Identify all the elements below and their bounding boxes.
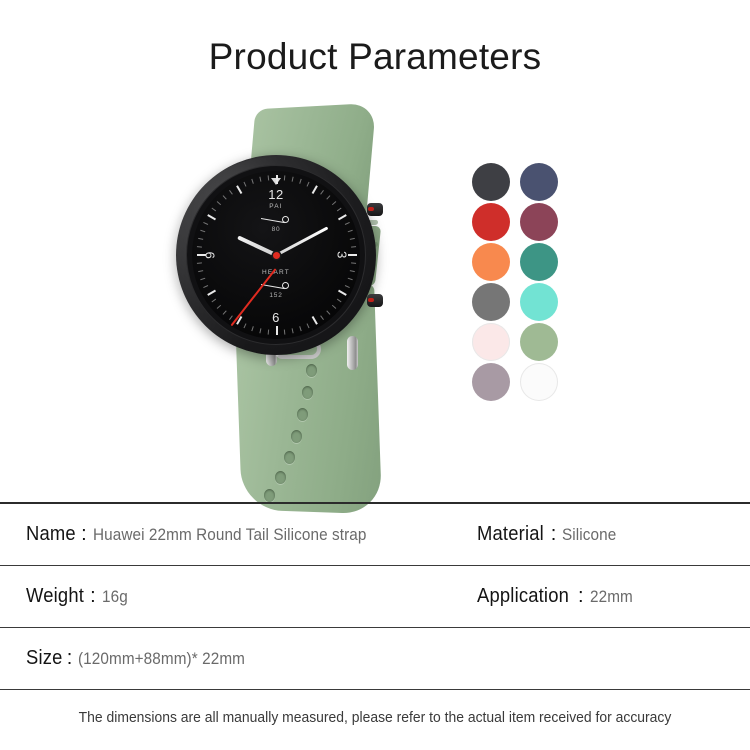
watch-hour-numeral-9: 9	[202, 251, 217, 259]
color-swatch-sage-green[interactable]	[520, 323, 558, 361]
color-swatch-teal[interactable]	[520, 243, 558, 281]
product-parameters-page: Product Parameters	[0, 0, 750, 750]
spec-label: Material	[477, 523, 544, 546]
color-swatch-mint-turquoise[interactable]	[520, 283, 558, 321]
spec-colon: :	[67, 647, 73, 670]
watch-subdial-heart: HEART 152	[250, 269, 302, 303]
spec-label: Name	[26, 523, 76, 546]
strap-hole	[291, 430, 302, 443]
subdial-needle-icon	[259, 212, 293, 226]
watch-hour-numeral-6: 6	[272, 310, 280, 325]
watch-center-pin	[273, 252, 280, 259]
spec-value: Huawei 22mm Round Tail Silicone strap	[93, 525, 366, 545]
spec-value: (120mm+88mm)* 22mm	[78, 649, 245, 669]
color-swatch-charcoal-gray[interactable]	[472, 163, 510, 201]
subdial-label: HEART	[250, 269, 302, 276]
table-row: Name : Huawei 22mm Round Tail Silicone s…	[0, 504, 750, 565]
watch-hour-numeral-12: 12	[268, 187, 283, 202]
color-swatch-gray[interactable]	[472, 283, 510, 321]
table-divider	[0, 689, 750, 690]
spec-label: Application	[477, 585, 569, 608]
color-swatch-navy-slate[interactable]	[520, 163, 558, 201]
spec-cell-application: Application : 22mm	[477, 585, 637, 608]
spec-label: Size	[26, 647, 63, 670]
spec-label: Weight	[26, 585, 84, 608]
spec-cell-size: Size : (120mm+88mm)* 22mm	[26, 647, 264, 670]
table-row: Size : (120mm+88mm)* 22mm	[0, 628, 750, 689]
spec-table: Name : Huawei 22mm Round Tail Silicone s…	[0, 502, 750, 690]
spec-colon: :	[90, 585, 96, 608]
spec-colon: :	[551, 523, 557, 546]
strap-hole	[284, 451, 295, 464]
spec-value: 16g	[102, 587, 128, 607]
watch-hour-hand	[237, 235, 277, 256]
page-title: Product Parameters	[0, 36, 750, 78]
spec-value: 22mm	[590, 587, 633, 607]
color-swatch-grid	[472, 163, 558, 401]
color-swatch-white[interactable]	[520, 363, 558, 401]
smartwatch: 12 3 6 9 PAI 80 HEART 152	[176, 155, 376, 355]
spec-value: Silicone	[562, 525, 616, 545]
strap-hole	[264, 489, 275, 502]
strap-hole	[275, 471, 286, 484]
measurement-disclaimer: The dimensions are all manually measured…	[15, 710, 735, 726]
subdial-label: PAI	[250, 203, 302, 210]
spec-cell-weight: Weight : 16g	[26, 585, 130, 608]
spec-cell-material: Material : Silicone	[477, 523, 623, 546]
color-swatch-red[interactable]	[472, 203, 510, 241]
spec-cell-name: Name : Huawei 22mm Round Tail Silicone s…	[26, 523, 397, 546]
product-image: 12 3 6 9 PAI 80 HEART 152	[0, 100, 750, 500]
color-swatch-mauve[interactable]	[472, 363, 510, 401]
table-row: Weight : 16g Application : 22mm	[0, 566, 750, 627]
watch-face: 12 3 6 9 PAI 80 HEART 152	[192, 171, 360, 339]
color-swatch-pale-pink[interactable]	[472, 323, 510, 361]
watch-crown-top	[367, 203, 383, 216]
watch-hour-numeral-3: 3	[335, 251, 350, 259]
color-swatch-wine[interactable]	[520, 203, 558, 241]
watch-crown-bottom	[367, 294, 383, 307]
watch-subdial-pai: PAI 80	[250, 203, 302, 237]
strap-hole	[302, 386, 313, 399]
strap-hole	[297, 408, 308, 421]
subdial-value: 80	[250, 226, 302, 233]
color-swatch-orange[interactable]	[472, 243, 510, 281]
spec-colon: :	[81, 523, 87, 546]
spec-colon: :	[578, 585, 584, 608]
